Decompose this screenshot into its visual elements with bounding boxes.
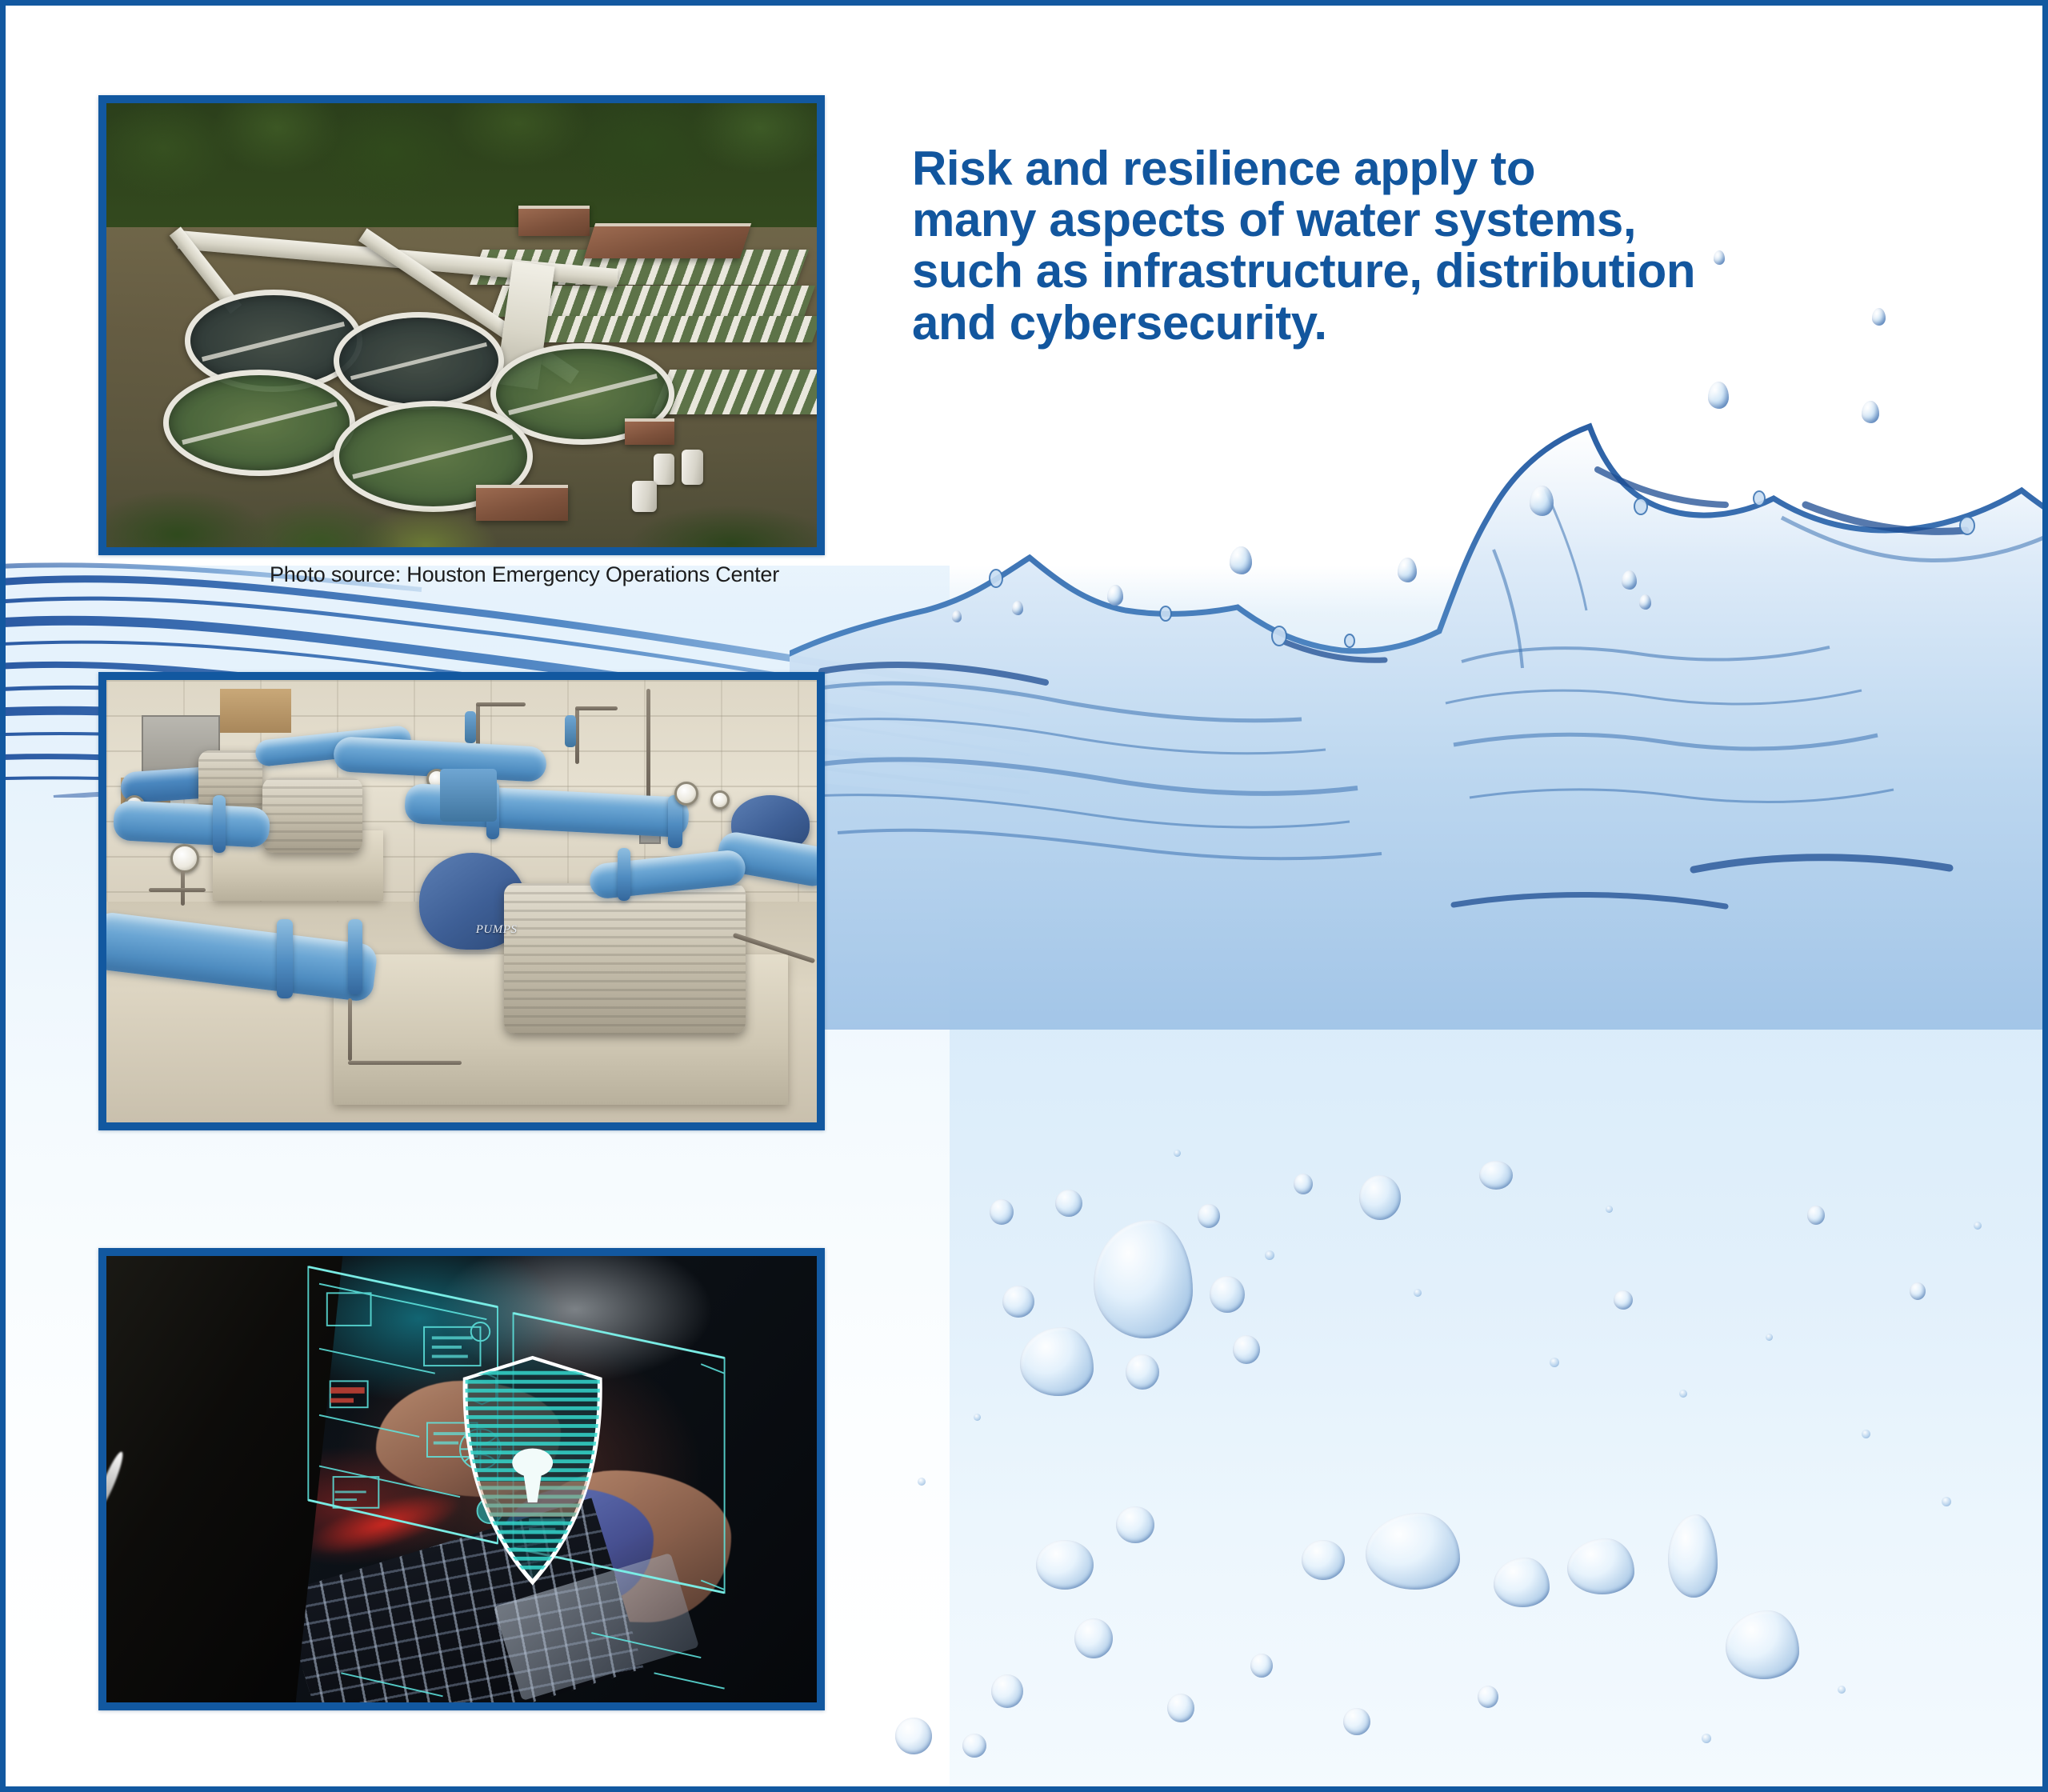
gate-valve bbox=[440, 769, 497, 822]
photo-pump-station: PUMPS bbox=[106, 680, 817, 1122]
plant-building bbox=[625, 418, 674, 445]
pump-station-scene: PUMPS bbox=[106, 680, 817, 1122]
plant-building bbox=[518, 206, 590, 237]
aeration-basin-bank bbox=[514, 316, 817, 342]
air-release-valve bbox=[565, 715, 576, 747]
floor-conduit bbox=[348, 1061, 462, 1065]
tree-foreground bbox=[106, 458, 817, 547]
pressure-gauge bbox=[710, 790, 730, 810]
cardboard-boxes bbox=[220, 689, 291, 733]
pump-brand-label: PUMPS bbox=[476, 923, 518, 937]
headline-line-4: and cybersecurity. bbox=[912, 298, 1984, 349]
wall-conduit bbox=[575, 706, 579, 764]
pump-motor bbox=[198, 750, 262, 812]
clarifier-basin bbox=[334, 312, 504, 410]
photo-cybersecurity bbox=[106, 1256, 817, 1702]
page-title: Risk and resilience apply to many aspect… bbox=[912, 143, 1984, 349]
photo-flooded-treatment-plant bbox=[106, 103, 817, 547]
plant-building bbox=[584, 223, 752, 258]
photo-source-caption: Photo source: Houston Emergency Operatio… bbox=[270, 562, 779, 587]
photo-frame-pump-station[interactable]: PUMPS bbox=[98, 672, 825, 1130]
slide-canvas: PUMPS bbox=[0, 0, 2048, 1792]
pressure-gauge bbox=[170, 844, 199, 873]
pipe-flange bbox=[618, 848, 630, 901]
pump-motor bbox=[504, 883, 746, 1034]
headline-line-1: Risk and resilience apply to bbox=[912, 143, 1984, 194]
photo-frame-flooded-treatment-plant[interactable] bbox=[98, 95, 825, 555]
pump-motor bbox=[262, 778, 362, 853]
pipe-flange bbox=[213, 795, 226, 853]
photo-frame-cybersecurity[interactable] bbox=[98, 1248, 825, 1710]
wall-conduit bbox=[646, 689, 650, 799]
floor-conduit bbox=[348, 998, 352, 1060]
wall-conduit bbox=[476, 702, 526, 706]
suction-pipe bbox=[113, 800, 271, 848]
pipe-flange bbox=[348, 919, 362, 994]
air-release-valve bbox=[465, 711, 476, 743]
gauge-piping bbox=[149, 888, 206, 892]
security-shield-icon bbox=[454, 1354, 610, 1586]
headline-line-3: such as infrastructure, distribution bbox=[912, 246, 1984, 297]
aeration-basin-bank bbox=[651, 370, 817, 414]
aerial-plant-scene bbox=[106, 103, 817, 547]
pipe-flange bbox=[277, 919, 293, 999]
wall-conduit bbox=[575, 706, 618, 710]
headline-line-2: many aspects of water systems, bbox=[912, 194, 1984, 246]
cybersecurity-scene bbox=[106, 1256, 817, 1702]
